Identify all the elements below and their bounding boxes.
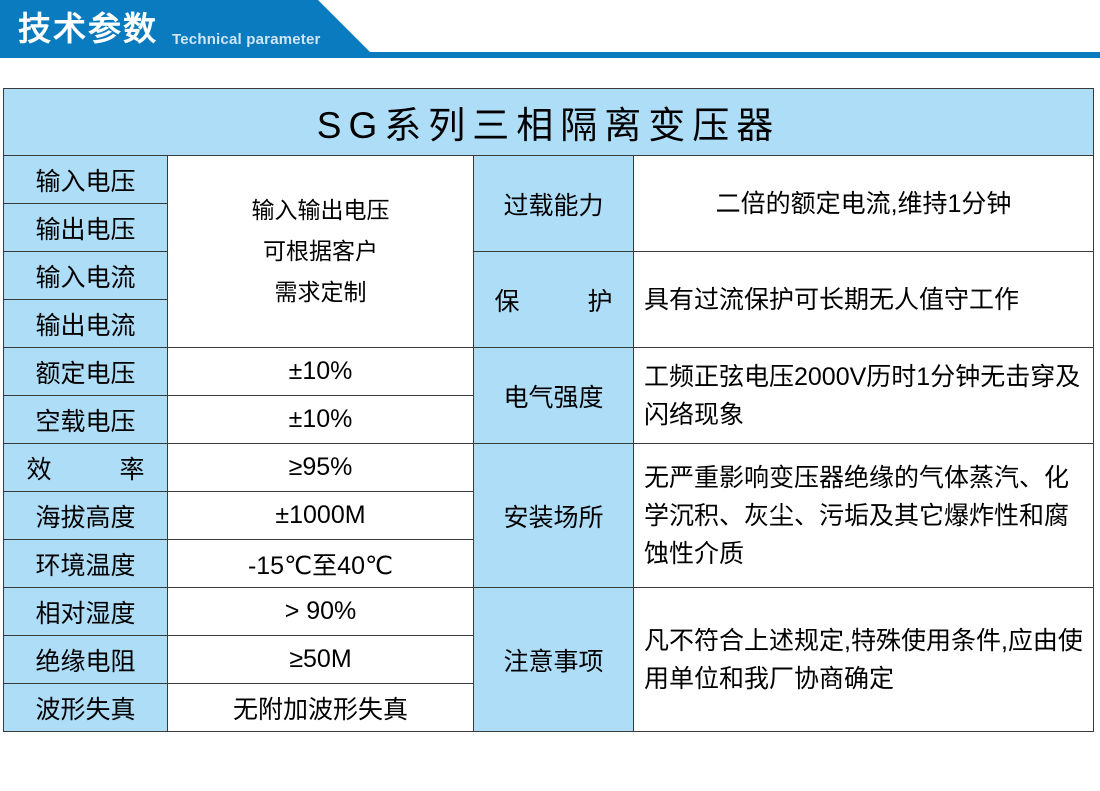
label-output-current: 输出电流 [4,300,168,348]
table-row: 输入电压 输入输出电压 可根据客户 需求定制 过载能力 二倍的额定电流,维持1分… [4,156,1094,204]
label-insulation-resistance: 绝缘电阻 [4,636,168,684]
table-title-row: SG系列三相隔离变压器 [4,89,1094,156]
table-row: 额定电压 ±10% 电气强度 工频正弦电压2000V历时1分钟无击穿及闪络现象 [4,348,1094,396]
specification-table: SG系列三相隔离变压器 输入电压 输入输出电压 可根据客户 需求定制 过载能力 … [3,88,1094,732]
value-protection: 具有过流保护可长期无人值守工作 [634,252,1094,348]
label-waveform-distortion: 波形失真 [4,684,168,732]
label-overload-capacity: 过载能力 [474,156,634,252]
table-row: 效 率 ≥95% 安装场所 无严重影响变压器绝缘的气体蒸汽、化学沉积、灰尘、污垢… [4,444,1094,492]
custom-voltage-note: 输入输出电压 可根据客户 需求定制 [168,156,474,348]
value-waveform-distortion: 无附加波形失真 [168,684,474,732]
value-precautions: 凡不符合上述规定,特殊使用条件,应由使用单位和我厂协商确定 [634,588,1094,732]
value-rated-voltage: ±10% [168,348,474,396]
value-installation-site: 无严重影响变压器绝缘的气体蒸汽、化学沉积、灰尘、污垢及其它爆炸性和腐蚀性介质 [634,444,1094,588]
label-efficiency: 效 率 [4,444,168,492]
page-header-banner: 技术参数 Technical parameter [0,0,1100,66]
table-row: 相对湿度 > 90% 注意事项 凡不符合上述规定,特殊使用条件,应由使用单位和我… [4,588,1094,636]
label-output-voltage: 输出电压 [4,204,168,252]
value-relative-humidity: > 90% [168,588,474,636]
value-electrical-strength: 工频正弦电压2000V历时1分钟无击穿及闪络现象 [634,348,1094,444]
label-precautions: 注意事项 [474,588,634,732]
label-input-current: 输入电流 [4,252,168,300]
label-efficiency-text: 效 率 [27,450,145,486]
value-efficiency: ≥95% [168,444,474,492]
table-row: 输入电流 保 护 具有过流保护可长期无人值守工作 [4,252,1094,300]
label-ambient-temperature: 环境温度 [4,540,168,588]
label-altitude: 海拔高度 [4,492,168,540]
value-altitude: ±1000M [168,492,474,540]
value-no-load-voltage: ±10% [168,396,474,444]
label-electrical-strength: 电气强度 [474,348,634,444]
table-title: SG系列三相隔离变压器 [4,89,1094,156]
label-installation-site: 安装场所 [474,444,634,588]
label-protection: 保 护 [474,252,634,348]
value-overload-capacity: 二倍的额定电流,维持1分钟 [634,156,1094,252]
banner-title-en: Technical parameter [172,31,321,48]
value-ambient-temperature: -15℃至40℃ [168,540,474,588]
label-relative-humidity: 相对湿度 [4,588,168,636]
custom-note-line-1: 输入输出电压 [174,190,467,231]
banner-underline [368,52,1100,58]
label-protection-text: 保 护 [495,282,613,318]
label-no-load-voltage: 空载电压 [4,396,168,444]
custom-note-line-3: 需求定制 [174,272,467,313]
label-input-voltage: 输入电压 [4,156,168,204]
banner-title-cn: 技术参数 [18,8,158,50]
value-insulation-resistance: ≥50M [168,636,474,684]
custom-note-line-2: 可根据客户 [174,231,467,272]
label-rated-voltage: 额定电压 [4,348,168,396]
